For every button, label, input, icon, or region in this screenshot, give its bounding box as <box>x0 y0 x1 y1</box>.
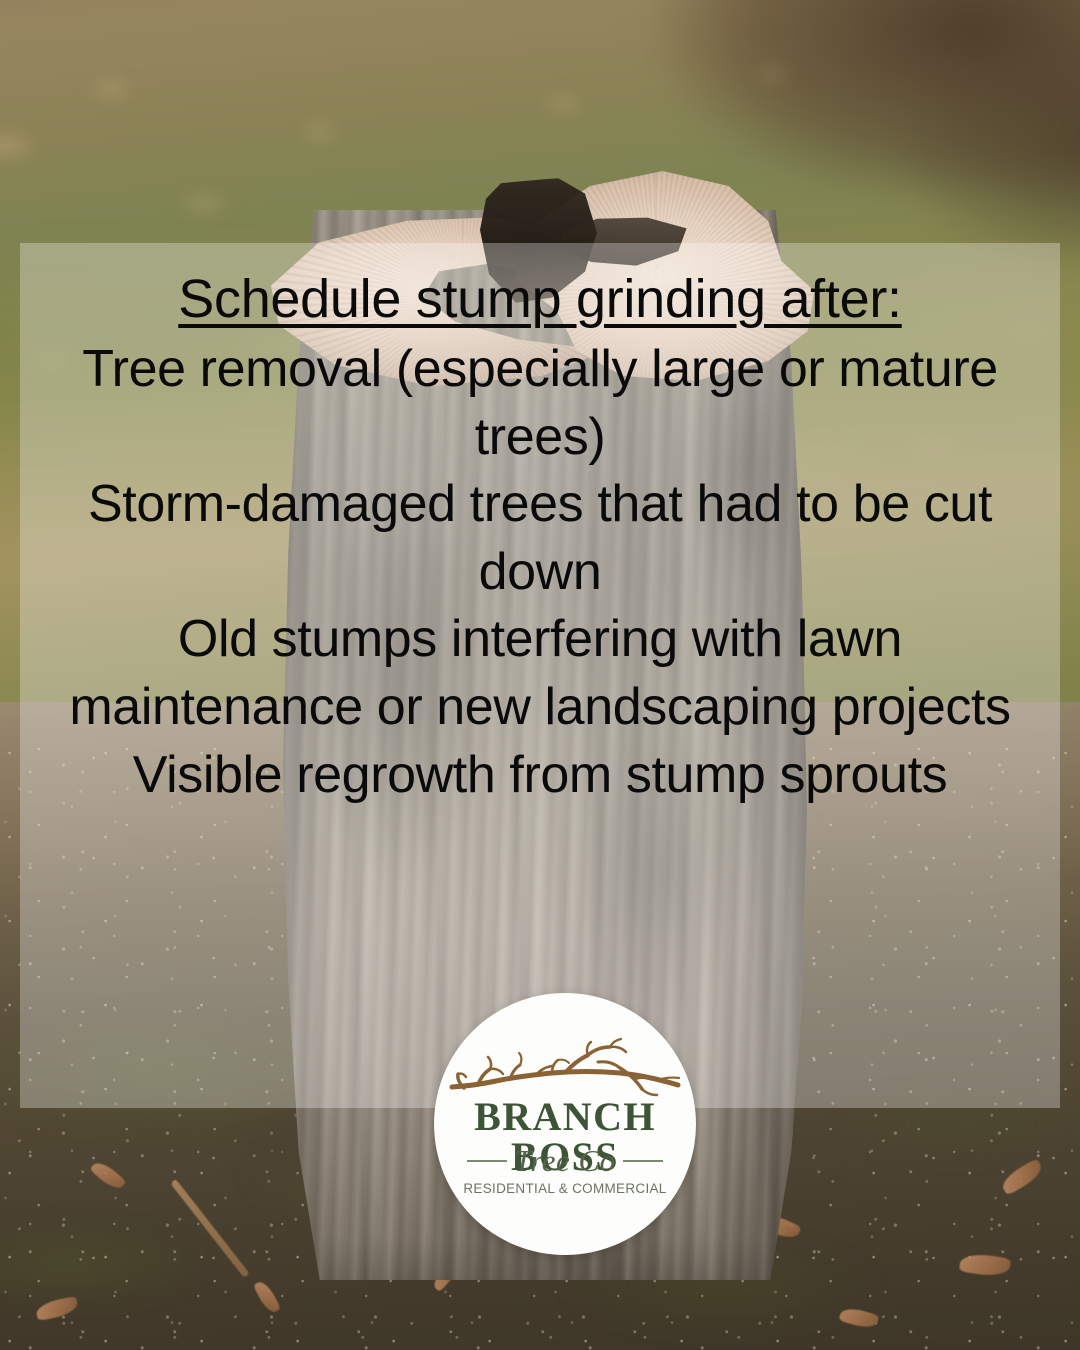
text-overlay-panel: Schedule stump grinding after: Tree remo… <box>20 243 1060 1108</box>
logo-rule-left <box>467 1160 507 1162</box>
overlay-content: Schedule stump grinding after: Tree remo… <box>20 243 1060 1108</box>
logo-subtitle: Tree Co <box>514 1145 615 1176</box>
list-item: Storm-damaged trees that had to be cut d… <box>48 471 1032 606</box>
logo-subtitle-row: Tree Co <box>434 1145 696 1176</box>
list-item: Old stumps interfering with lawn mainten… <box>48 606 1032 741</box>
page-title: Schedule stump grinding after: <box>178 265 901 334</box>
brand-logo-badge: BRANCH BOSS Tree Co RESIDENTIAL & COMMER… <box>434 993 696 1255</box>
list-item: Visible regrowth from stump sprouts <box>133 742 947 810</box>
logo-rule-right <box>623 1160 663 1162</box>
social-post-canvas: Schedule stump grinding after: Tree remo… <box>0 0 1080 1350</box>
list-item: Tree removal (especially large or mature… <box>48 336 1032 471</box>
logo-tagline: RESIDENTIAL & COMMERCIAL <box>434 1182 696 1196</box>
